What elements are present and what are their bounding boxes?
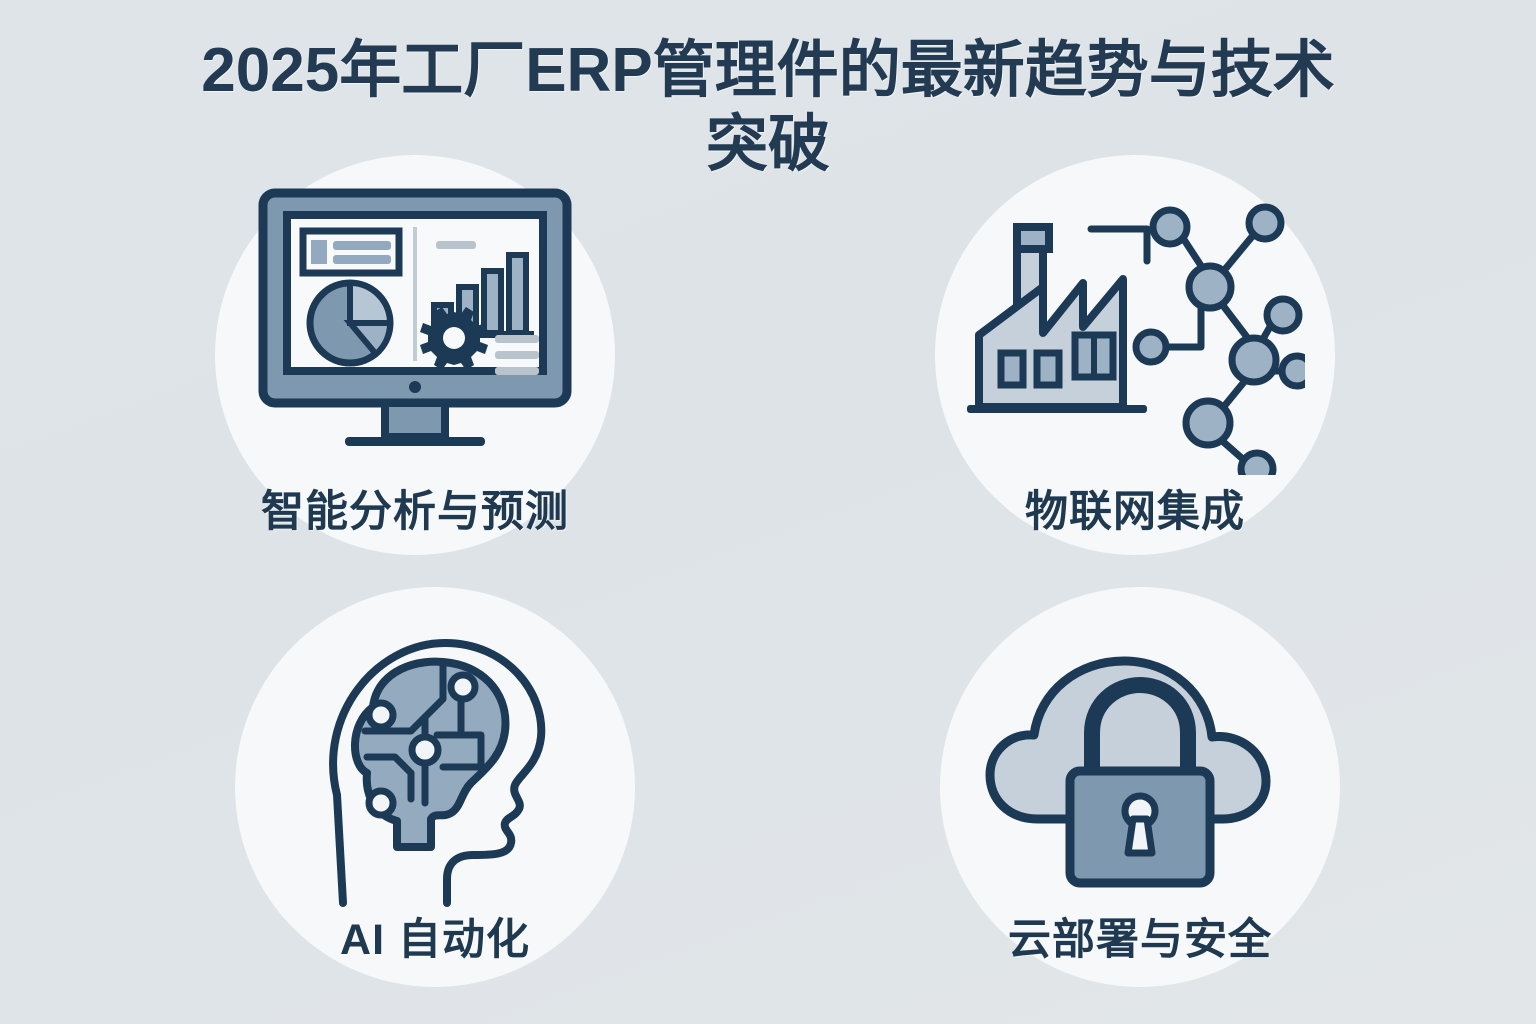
page-title-line-1: 2025年工厂ERP管理件的最新趋势与技术 — [0, 34, 1536, 108]
dashboard-monitor-icon — [245, 175, 585, 475]
cloud-lock-icon — [970, 607, 1310, 907]
factory-network-icon — [965, 175, 1305, 475]
feature-card-iot-integration[interactable]: 物联网集成 — [925, 155, 1345, 575]
feature-card-label: 智能分析与预测 — [205, 477, 625, 539]
feature-card-ai-automation[interactable]: AI 自动化 — [225, 587, 645, 1007]
feature-card-cloud-security[interactable]: 云部署与安全 — [930, 587, 1350, 1007]
feature-card-smart-analytics[interactable]: 智能分析与预测 — [205, 155, 625, 575]
feature-card-label: 物联网集成 — [925, 477, 1345, 539]
feature-card-label: 云部署与安全 — [930, 905, 1350, 967]
feature-card-label: AI 自动化 — [225, 905, 645, 967]
feature-grid: 智能分析与预测 — [0, 150, 1536, 1024]
head-circuit-brain-icon — [265, 607, 605, 907]
